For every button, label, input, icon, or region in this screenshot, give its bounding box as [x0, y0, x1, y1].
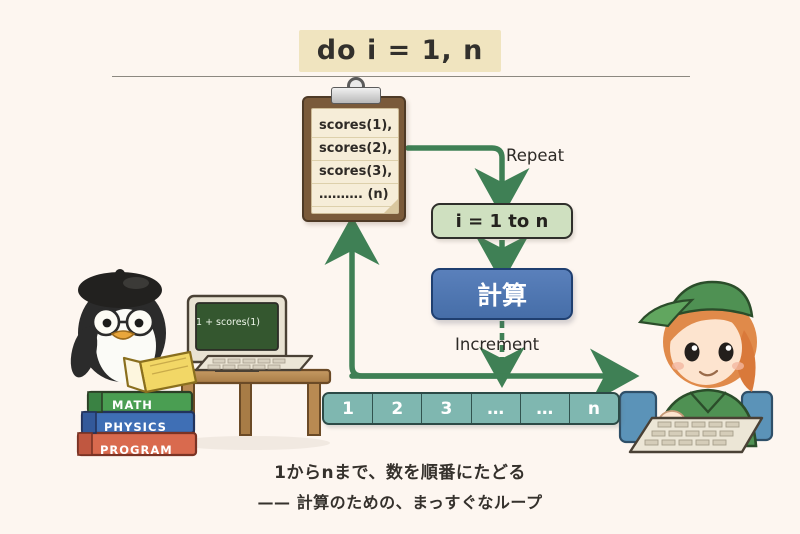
- book-label-program: PROGRAM: [100, 443, 173, 457]
- caption-block: 1からnまで、数を順番にたどる —— 計算のための、まっすぐなループ: [0, 458, 800, 513]
- clipboard-line: scores(3),: [312, 161, 398, 184]
- illustration-canvas: do i = 1, n: [0, 0, 800, 534]
- label-increment: Increment: [455, 335, 539, 354]
- book-label-math: MATH: [112, 398, 153, 412]
- girl-typing-scene: [620, 282, 772, 452]
- clipboard-clip-icon: [331, 87, 381, 104]
- arrow-repeat: [408, 148, 502, 190]
- caption-line-2: —— 計算のための、まっすぐなループ: [0, 489, 800, 513]
- sequence-cell: 1: [324, 394, 373, 423]
- sequence-cell: 2: [373, 394, 422, 423]
- clipboard: scores(1), scores(2), scores(3), ………. (n…: [302, 96, 406, 222]
- penguin-illustration: [66, 269, 196, 392]
- keyboard-illustration: [196, 356, 312, 370]
- clipboard-line: scores(2),: [312, 138, 398, 161]
- sequence-cell: …: [521, 394, 570, 423]
- clipboard-line: scores(1),: [312, 115, 398, 138]
- label-repeat: Repeat: [506, 146, 564, 165]
- loop-range-box: i = 1 to n: [431, 203, 573, 239]
- book-label-physics: PHYSICS: [104, 420, 167, 434]
- calculation-box: 計算: [431, 268, 573, 320]
- sequence-cell: n: [570, 394, 618, 423]
- clipboard-paper: scores(1), scores(2), scores(3), ………. (n…: [311, 108, 399, 214]
- monitor-screen-text: 1 + scores(1): [196, 317, 260, 328]
- sequence-cell: …: [472, 394, 521, 423]
- caption-line-1: 1からnまで、数を順番にたどる: [0, 458, 800, 483]
- sequence-cell: 3: [422, 394, 471, 423]
- paper-fold-corner: [384, 199, 398, 213]
- index-sequence-row: 1 2 3 … … n: [322, 392, 620, 425]
